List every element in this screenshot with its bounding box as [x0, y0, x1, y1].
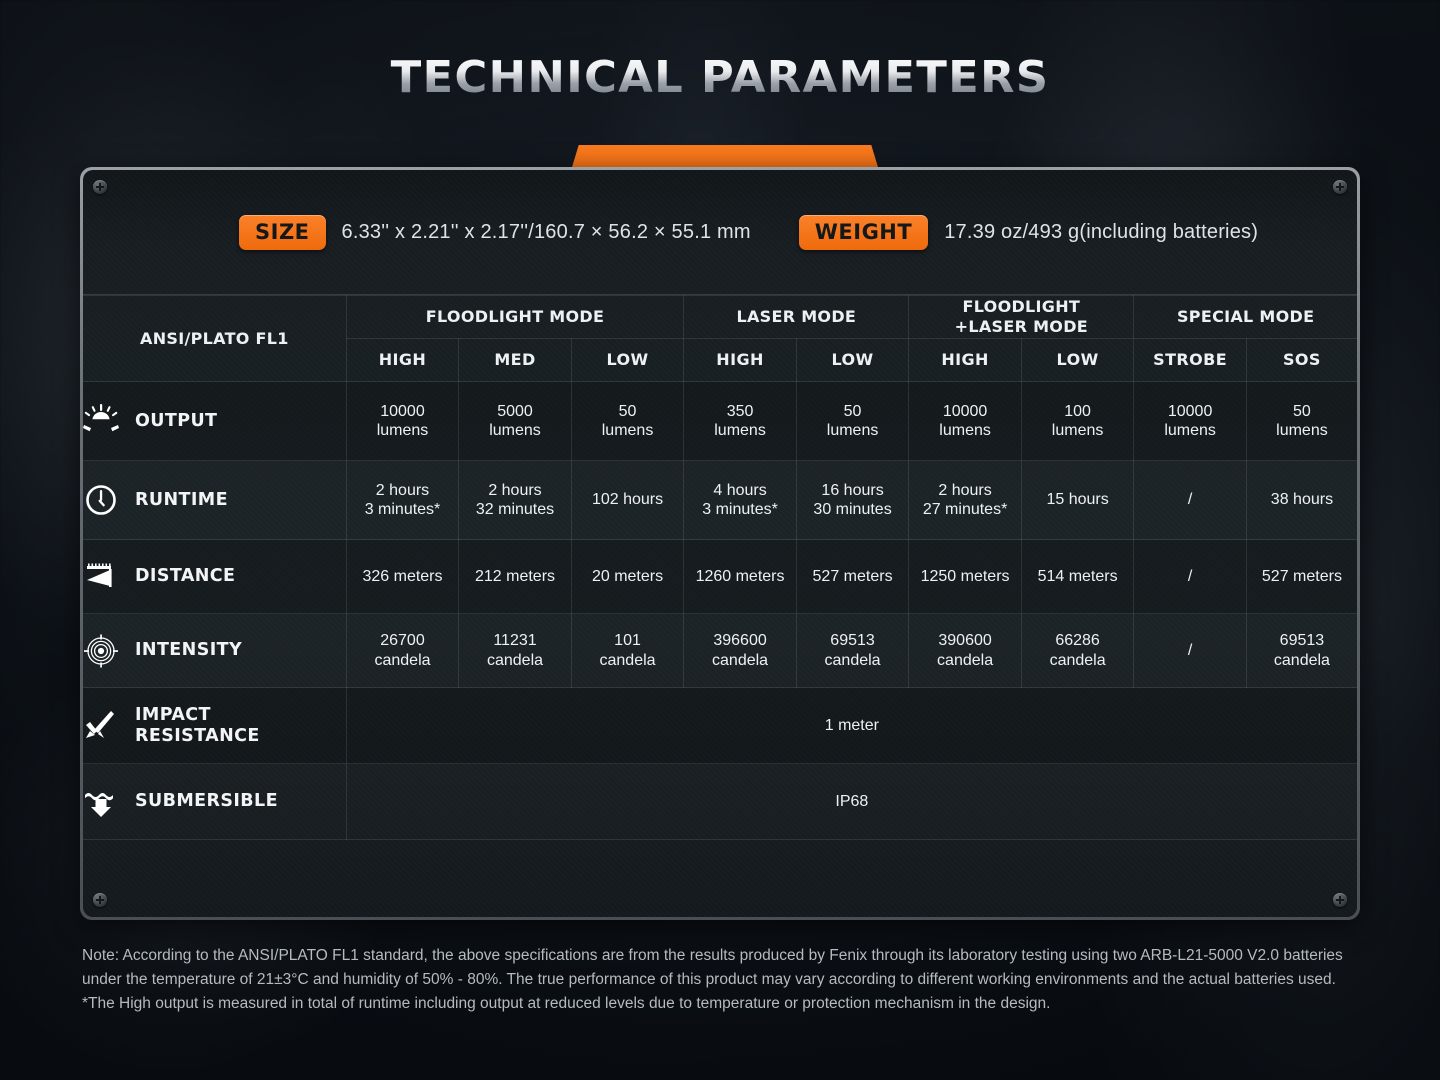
cell-output-flood-low: 50 lumens — [571, 382, 684, 461]
cell-distance-laser-high: 1260 meters — [684, 540, 797, 614]
cell-intensity-sos: 69513 candela — [1246, 614, 1357, 688]
target-intensity-icon — [83, 634, 119, 668]
cell-intensity-flood-high: 26700 candela — [346, 614, 459, 688]
cell-output-strobe: 10000 lumens — [1134, 382, 1247, 461]
beam-distance-icon — [83, 560, 119, 594]
cell-output-laser-high: 350 lumens — [684, 382, 797, 461]
sub-header-laser-low: LOW — [796, 339, 909, 382]
row-label-distance: DISTANCE — [83, 540, 346, 614]
size-badge: SIZE — [239, 215, 326, 250]
page-title: TECHNICAL PARAMETERS — [0, 52, 1440, 103]
table-row: SUBMERSIBLE IP68 — [83, 764, 1357, 840]
water-submersible-icon — [83, 785, 119, 819]
cell-submersible-value: IP68 — [346, 764, 1357, 840]
sub-header-flood-high: HIGH — [346, 339, 459, 382]
row-label-runtime: RUNTIME — [83, 461, 346, 540]
cell-output-combo-low: 100 lumens — [1021, 382, 1134, 461]
cell-runtime-laser-low: 16 hours 30 minutes — [796, 461, 909, 540]
cell-intensity-combo-low: 66286 candela — [1021, 614, 1134, 688]
cell-intensity-combo-high: 390600 candela — [909, 614, 1022, 688]
cell-intensity-strobe: / — [1134, 614, 1247, 688]
row-label-submersible: SUBMERSIBLE — [83, 764, 346, 840]
parameters-table: ANSI/PLATO FL1 FLOODLIGHT MODE LASER MOD… — [83, 295, 1357, 840]
table-header-row-modes: ANSI/PLATO FL1 FLOODLIGHT MODE LASER MOD… — [83, 296, 1357, 339]
cell-distance-flood-high: 326 meters — [346, 540, 459, 614]
table-row: OUTPUT 10000 lumens 5000 lumens 50 lumen… — [83, 382, 1357, 461]
clock-icon — [83, 483, 119, 517]
screw-icon — [93, 893, 107, 907]
cell-intensity-flood-med: 11231 candela — [459, 614, 572, 688]
weight-group: WEIGHT 17.39 oz/493 g(including batterie… — [799, 215, 1258, 250]
sub-header-laser-high: HIGH — [684, 339, 797, 382]
cell-distance-flood-med: 212 meters — [459, 540, 572, 614]
cell-distance-sos: 527 meters — [1246, 540, 1357, 614]
weight-badge: WEIGHT — [799, 215, 928, 250]
cell-intensity-laser-low: 69513 candela — [796, 614, 909, 688]
cell-runtime-sos: 38 hours — [1246, 461, 1357, 540]
cell-distance-combo-low: 514 meters — [1021, 540, 1134, 614]
footnote: Note: According to the ANSI/PLATO FL1 st… — [82, 944, 1372, 1016]
spec-panel-inner: SIZE 6.33'' x 2.21'' x 2.17''/160.7 × 56… — [83, 170, 1357, 917]
sub-header-sos: SOS — [1246, 339, 1357, 382]
mode-group-special: SPECIAL MODE — [1134, 296, 1357, 339]
cell-distance-combo-high: 1250 meters — [909, 540, 1022, 614]
impact-resistance-icon — [83, 709, 119, 743]
footnote-line-2: *The High output is measured in total of… — [82, 992, 1372, 1016]
cell-output-laser-low: 50 lumens — [796, 382, 909, 461]
sub-header-flood-med: MED — [459, 339, 572, 382]
table-row: DISTANCE 326 meters 212 meters 20 meters… — [83, 540, 1357, 614]
sub-header-strobe: STROBE — [1134, 339, 1247, 382]
row-label-text: RUNTIME — [135, 490, 228, 511]
footnote-line-1: Note: According to the ANSI/PLATO FL1 st… — [82, 944, 1372, 992]
cell-impact-resistance-value: 1 meter — [346, 688, 1357, 764]
row-label-output: OUTPUT — [83, 382, 346, 461]
cell-intensity-laser-high: 396600 candela — [684, 614, 797, 688]
row-label-text: IMPACT RESISTANCE — [135, 705, 260, 747]
size-group: SIZE 6.33'' x 2.21'' x 2.17''/160.7 × 56… — [239, 215, 751, 250]
size-weight-strip: SIZE 6.33'' x 2.21'' x 2.17''/160.7 × 56… — [83, 170, 1357, 295]
sub-header-combo-high: HIGH — [909, 339, 1022, 382]
weight-value: 17.39 oz/493 g(including batteries) — [944, 221, 1258, 244]
cell-output-sos: 50 lumens — [1246, 382, 1357, 461]
cell-distance-flood-low: 20 meters — [571, 540, 684, 614]
table-row: IMPACT RESISTANCE 1 meter — [83, 688, 1357, 764]
mode-group-floodlight-laser: FLOODLIGHT +LASER MODE — [909, 296, 1134, 339]
cell-runtime-combo-high: 2 hours 27 minutes* — [909, 461, 1022, 540]
sub-header-combo-low: LOW — [1021, 339, 1134, 382]
screw-icon — [1333, 893, 1347, 907]
mode-group-laser: LASER MODE — [684, 296, 909, 339]
cell-distance-strobe: / — [1134, 540, 1247, 614]
spec-panel: SIZE 6.33'' x 2.21'' x 2.17''/160.7 × 56… — [80, 167, 1360, 920]
burst-light-icon — [83, 404, 119, 438]
row-label-text: SUBMERSIBLE — [135, 791, 278, 812]
cell-runtime-flood-low: 102 hours — [571, 461, 684, 540]
row-label-text: INTENSITY — [135, 640, 242, 661]
row-label-text: DISTANCE — [135, 566, 235, 587]
mode-group-floodlight: FLOODLIGHT MODE — [346, 296, 684, 339]
row-label-text: OUTPUT — [135, 411, 217, 432]
cell-runtime-strobe: / — [1134, 461, 1247, 540]
row-label-impact-resistance: IMPACT RESISTANCE — [83, 688, 346, 764]
cell-runtime-flood-high: 2 hours 3 minutes* — [346, 461, 459, 540]
table-row: RUNTIME 2 hours 3 minutes* 2 hours 32 mi… — [83, 461, 1357, 540]
cell-intensity-flood-low: 101 candela — [571, 614, 684, 688]
ansi-plato-label: ANSI/PLATO FL1 — [83, 296, 346, 382]
size-value: 6.33'' x 2.21'' x 2.17''/160.7 × 56.2 × … — [342, 221, 751, 244]
cell-output-flood-high: 10000 lumens — [346, 382, 459, 461]
table-row: INTENSITY 26700 candela 11231 candela 10… — [83, 614, 1357, 688]
cell-runtime-laser-high: 4 hours 3 minutes* — [684, 461, 797, 540]
cell-output-combo-high: 10000 lumens — [909, 382, 1022, 461]
row-label-intensity: INTENSITY — [83, 614, 346, 688]
cell-distance-laser-low: 527 meters — [796, 540, 909, 614]
sub-header-flood-low: LOW — [571, 339, 684, 382]
cell-runtime-combo-low: 15 hours — [1021, 461, 1134, 540]
cell-output-flood-med: 5000 lumens — [459, 382, 572, 461]
cell-runtime-flood-med: 2 hours 32 minutes — [459, 461, 572, 540]
